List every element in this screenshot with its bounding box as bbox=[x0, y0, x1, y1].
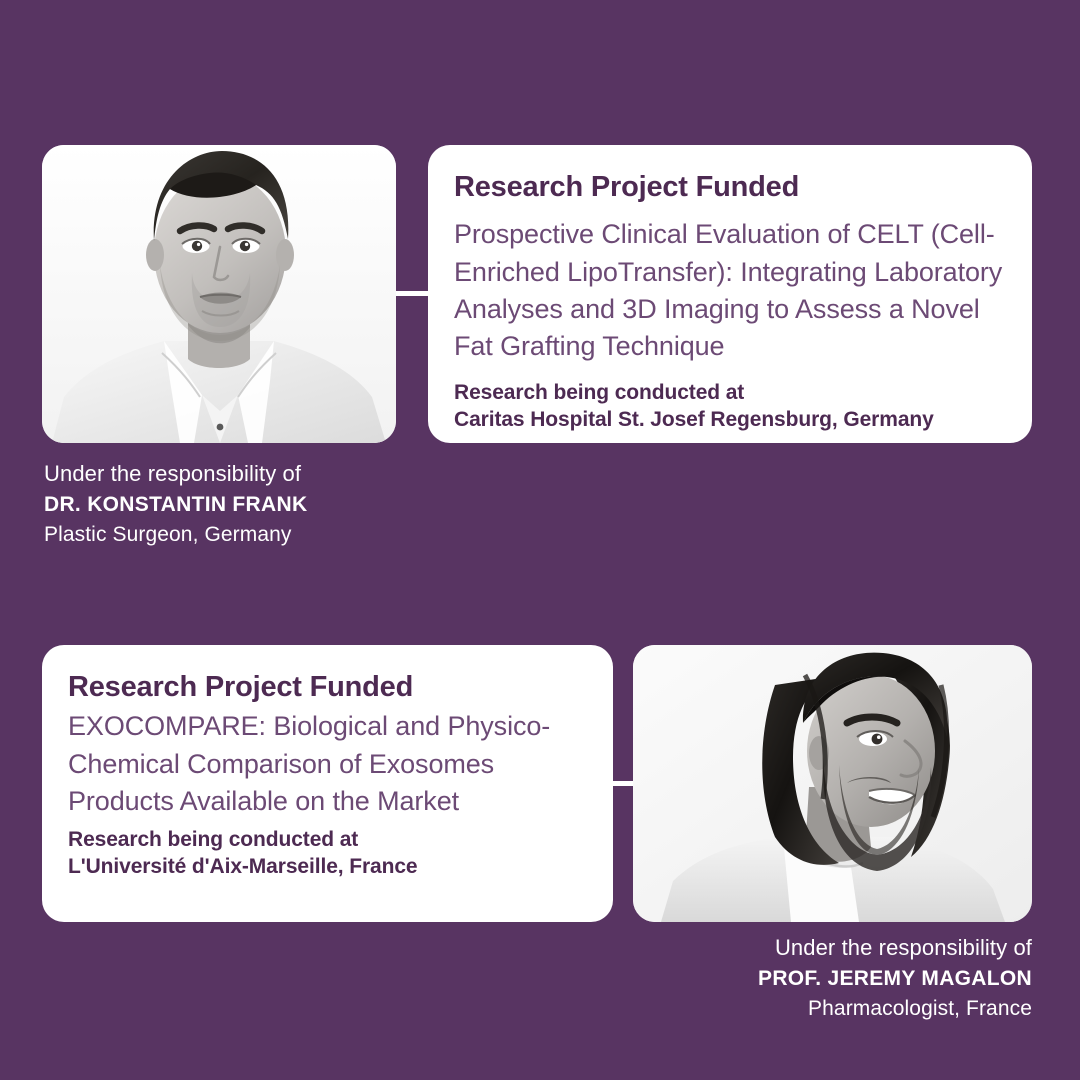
caption-jeremy-magalon: Under the responsibility of PROF. JEREMY… bbox=[592, 932, 1032, 1025]
institution-name: L'Université d'Aix-Marseille, France bbox=[68, 854, 587, 881]
card-title: Research Project Funded bbox=[454, 171, 1006, 203]
conducted-at-label: Research being conducted at bbox=[68, 827, 587, 854]
institution-name: Caritas Hospital St. Josef Regensburg, G… bbox=[454, 407, 1006, 434]
responsibility-label: Under the responsibility of bbox=[44, 458, 444, 490]
conducted-at-label: Research being conducted at bbox=[454, 380, 1006, 407]
person-role: Plastic Surgeon, Germany bbox=[44, 520, 444, 550]
research-card-exocompare: Research Project Funded EXOCOMPARE: Biol… bbox=[42, 645, 613, 922]
research-card-celt: Research Project Funded Prospective Clin… bbox=[428, 145, 1032, 443]
card-footer: Research being conducted at L'Université… bbox=[68, 827, 587, 881]
poster-canvas: Research Project Funded Prospective Clin… bbox=[0, 0, 1080, 1080]
card-footer: Research being conducted at Caritas Hosp… bbox=[454, 380, 1006, 434]
card-body: Prospective Clinical Evaluation of CELT … bbox=[454, 216, 1006, 365]
person-name: DR. KONSTANTIN FRANK bbox=[44, 490, 444, 520]
person-name: PROF. JEREMY MAGALON bbox=[592, 964, 1032, 994]
card-body: EXOCOMPARE: Biological and Physico-Chemi… bbox=[68, 708, 587, 820]
connector-bar-row-2 bbox=[613, 781, 633, 786]
connector-bar-row-1 bbox=[396, 291, 428, 296]
card-title: Research Project Funded bbox=[68, 671, 587, 703]
person-role: Pharmacologist, France bbox=[592, 994, 1032, 1024]
portrait-photo-jeremy-magalon bbox=[633, 645, 1032, 922]
responsibility-label: Under the responsibility of bbox=[592, 932, 1032, 964]
caption-konstantin-frank: Under the responsibility of DR. KONSTANT… bbox=[44, 458, 444, 551]
portrait-photo-konstantin-frank bbox=[42, 145, 396, 443]
